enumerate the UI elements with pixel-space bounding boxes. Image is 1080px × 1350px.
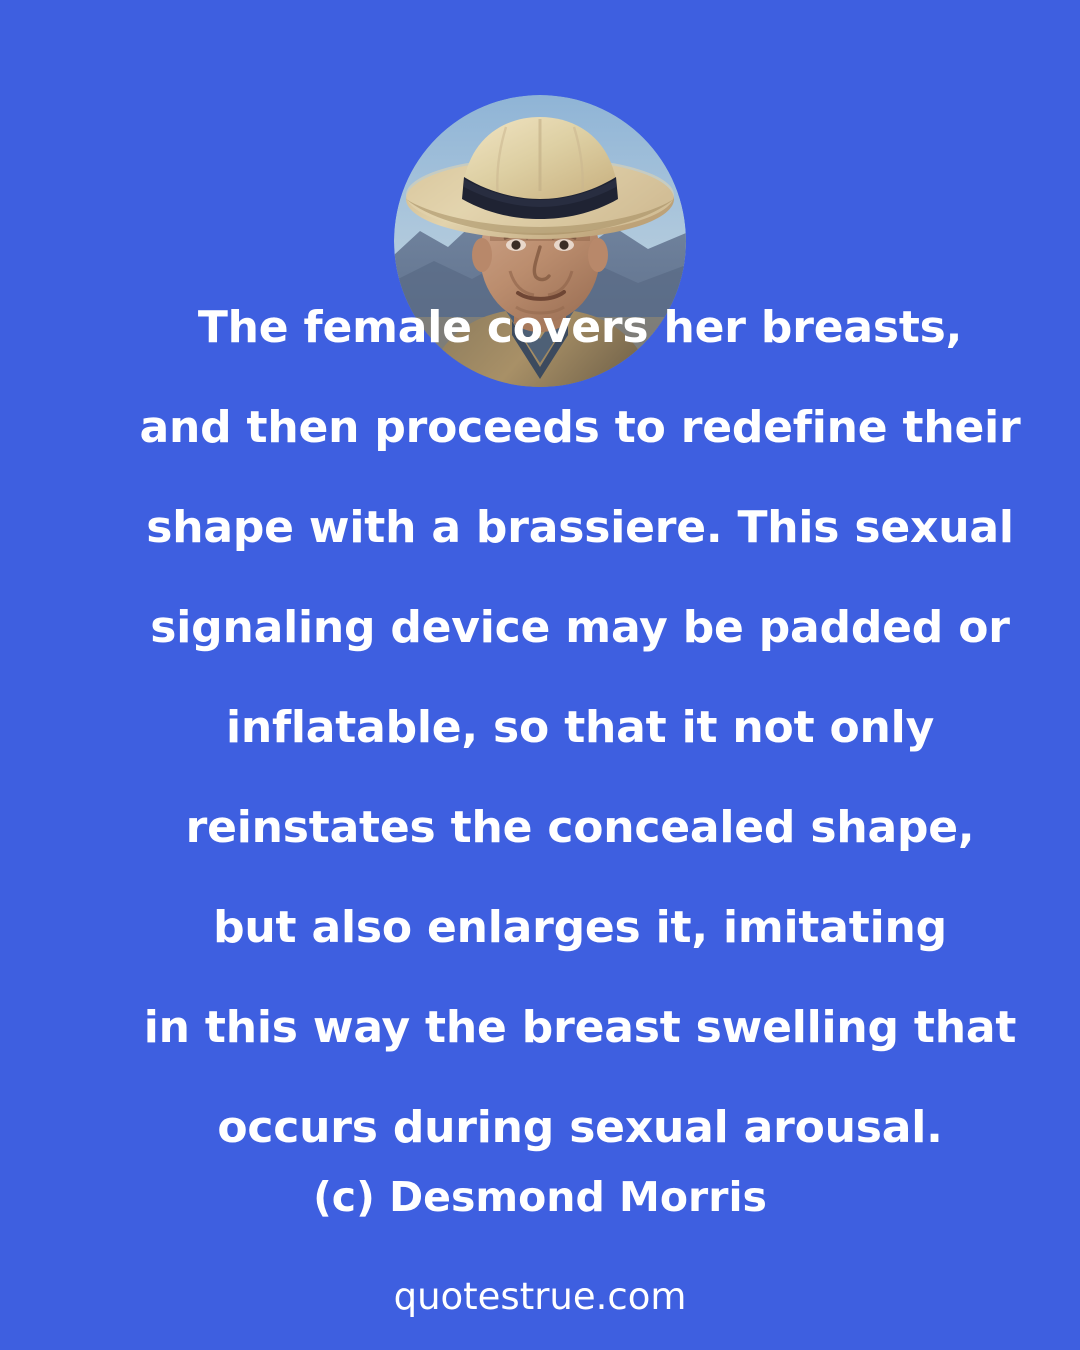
quote-line: The female covers her breasts, xyxy=(100,278,1060,378)
source-site-label: quotestrue.com xyxy=(0,1272,1080,1322)
quote-line: shape with a brassiere. This sexual xyxy=(100,478,1060,578)
quote-line: occurs during sexual arousal. xyxy=(100,1078,1060,1178)
quote-line: signaling device may be padded or xyxy=(100,578,1060,678)
quote-line: but also enlarges it, imitating xyxy=(100,878,1060,978)
attribution-author: (c) Desmond Morris xyxy=(0,1168,1080,1226)
quote-line: inflatable, so that it not only xyxy=(100,678,1060,778)
quote-text: The female covers her breasts, and then … xyxy=(40,278,1080,1178)
quote-line: and then proceeds to redefine their xyxy=(100,378,1060,478)
footer: quotestrue.com xyxy=(0,1272,1080,1322)
quote-line: in this way the breast swelling that xyxy=(100,978,1060,1078)
quote-card: The female covers her breasts, and then … xyxy=(0,0,1080,1350)
attribution: (c) Desmond Morris xyxy=(0,1168,1080,1226)
quote-line: reinstates the concealed shape, xyxy=(100,778,1060,878)
